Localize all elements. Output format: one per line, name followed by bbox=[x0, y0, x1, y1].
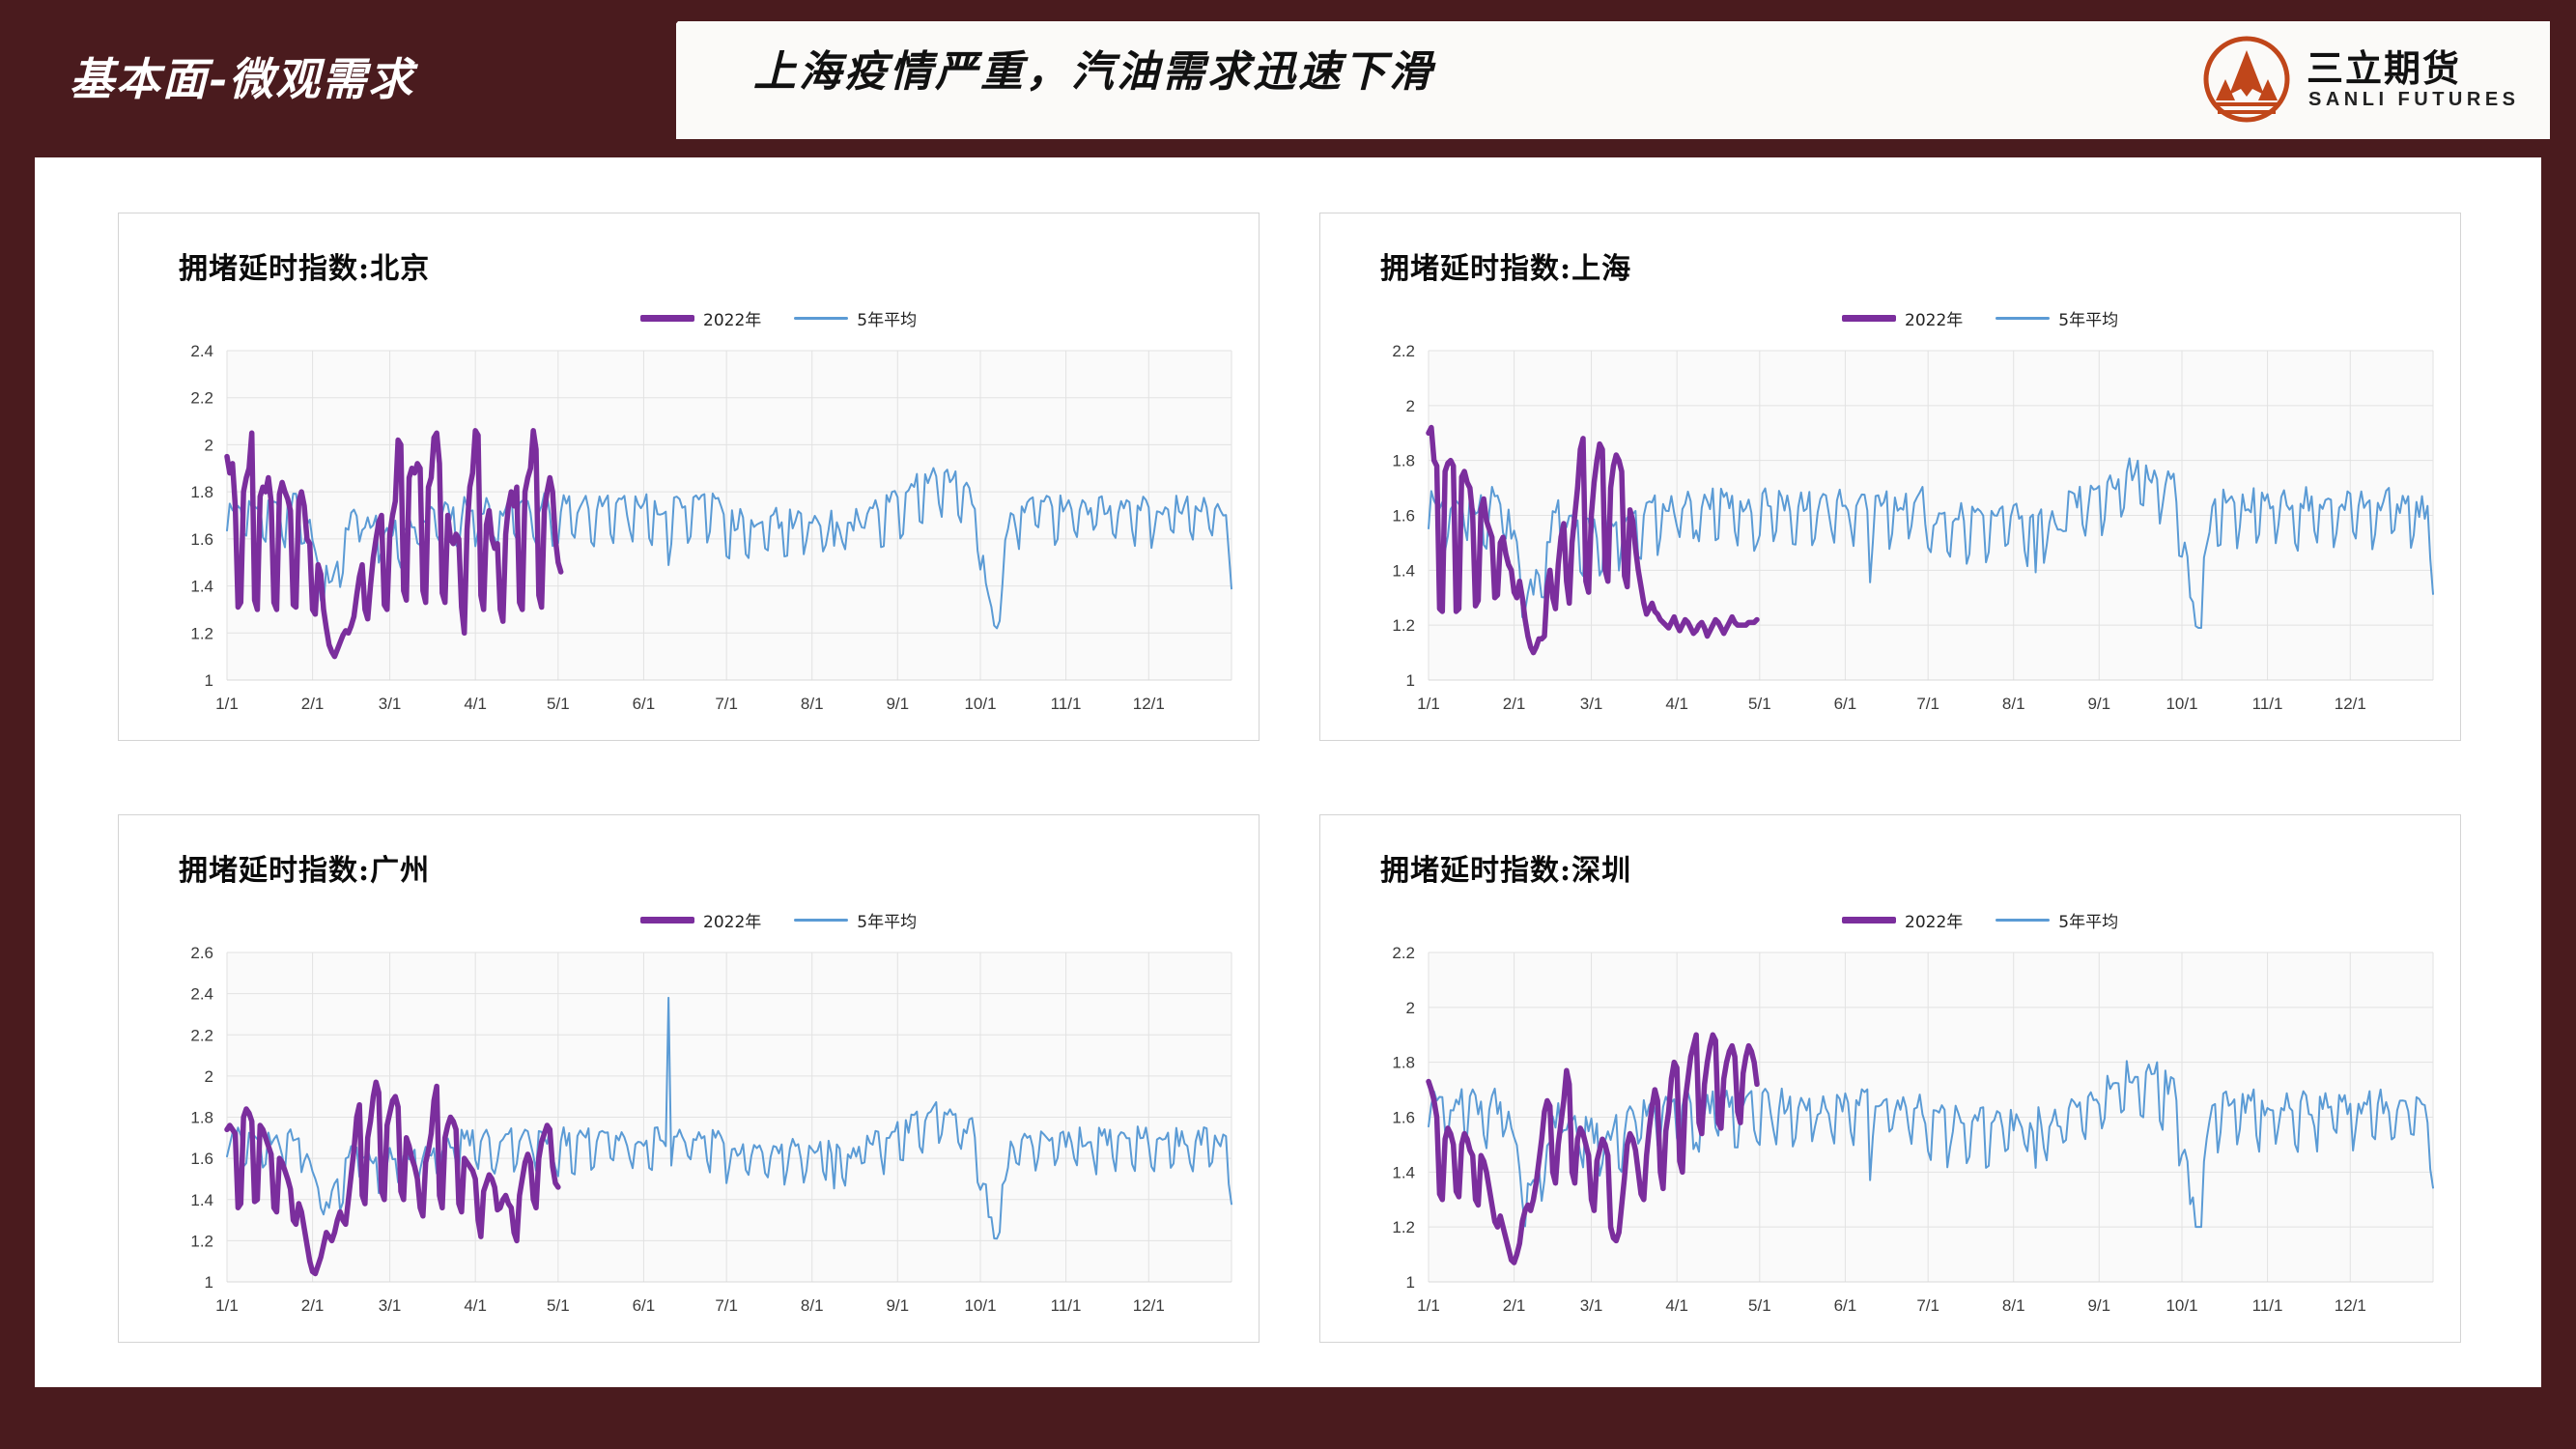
svg-text:1: 1 bbox=[205, 671, 213, 690]
svg-text:2/1: 2/1 bbox=[1503, 695, 1526, 713]
logo-name-cn: 三立期货 bbox=[2307, 39, 2461, 92]
svg-text:2: 2 bbox=[1406, 999, 1415, 1017]
svg-text:1.8: 1.8 bbox=[1392, 452, 1415, 470]
chart-panel-shanghai: 拥堵延时指数:上海 2022年 5年平均 11.21.41.61.822.21/… bbox=[1319, 213, 2461, 741]
svg-text:4/1: 4/1 bbox=[464, 1296, 487, 1315]
svg-text:8/1: 8/1 bbox=[2002, 1296, 2025, 1315]
svg-text:1: 1 bbox=[1406, 1273, 1415, 1292]
svg-text:12/1: 12/1 bbox=[1133, 1296, 1165, 1315]
svg-text:2.2: 2.2 bbox=[1392, 944, 1415, 962]
svg-text:9/1: 9/1 bbox=[886, 1296, 909, 1315]
svg-text:1.6: 1.6 bbox=[1392, 507, 1415, 526]
svg-text:2/1: 2/1 bbox=[1503, 1296, 1526, 1315]
svg-text:12/1: 12/1 bbox=[2335, 695, 2366, 713]
svg-text:9/1: 9/1 bbox=[2087, 1296, 2110, 1315]
svg-text:10/1: 10/1 bbox=[2166, 1296, 2197, 1315]
svg-text:1/1: 1/1 bbox=[1417, 695, 1440, 713]
svg-text:1.2: 1.2 bbox=[190, 1232, 213, 1250]
svg-text:9/1: 9/1 bbox=[886, 695, 909, 713]
svg-text:11/1: 11/1 bbox=[2252, 695, 2283, 713]
plot-shanghai: 11.21.41.61.822.21/12/13/14/15/16/17/18/… bbox=[1320, 213, 2460, 740]
svg-text:11/1: 11/1 bbox=[2252, 1296, 2283, 1315]
svg-text:10/1: 10/1 bbox=[2166, 695, 2197, 713]
page-title: 上海疫情严重，汽油需求迅速下滑 bbox=[753, 37, 1434, 99]
plot-guangzhou: 11.21.41.61.822.22.42.61/12/13/14/15/16/… bbox=[119, 815, 1259, 1342]
svg-text:2.4: 2.4 bbox=[190, 985, 213, 1004]
svg-text:1/1: 1/1 bbox=[1417, 1296, 1440, 1315]
svg-text:1.8: 1.8 bbox=[1392, 1054, 1415, 1072]
svg-text:7/1: 7/1 bbox=[1916, 1296, 1939, 1315]
svg-text:1/1: 1/1 bbox=[215, 695, 239, 713]
chart-panel-shenzhen: 拥堵延时指数:深圳 2022年 5年平均 11.21.41.61.822.21/… bbox=[1319, 814, 2461, 1343]
svg-text:3/1: 3/1 bbox=[379, 1296, 402, 1315]
svg-text:1.8: 1.8 bbox=[190, 1109, 213, 1127]
svg-text:4/1: 4/1 bbox=[1665, 695, 1688, 713]
svg-text:1.6: 1.6 bbox=[1392, 1109, 1415, 1127]
svg-text:10/1: 10/1 bbox=[964, 1296, 996, 1315]
svg-text:7/1: 7/1 bbox=[715, 695, 738, 713]
svg-text:2.2: 2.2 bbox=[190, 1026, 213, 1044]
svg-text:9/1: 9/1 bbox=[2087, 695, 2110, 713]
chart-panel-beijing: 拥堵延时指数:北京 2022年 5年平均 11.21.41.61.822.22.… bbox=[118, 213, 1260, 741]
svg-text:7/1: 7/1 bbox=[715, 1296, 738, 1315]
svg-text:6/1: 6/1 bbox=[633, 695, 656, 713]
svg-text:5/1: 5/1 bbox=[1748, 1296, 1771, 1315]
svg-text:1: 1 bbox=[1406, 671, 1415, 690]
svg-text:1.6: 1.6 bbox=[190, 530, 213, 549]
svg-text:11/1: 11/1 bbox=[1051, 1296, 1082, 1315]
svg-text:5/1: 5/1 bbox=[547, 1296, 570, 1315]
svg-text:1.4: 1.4 bbox=[1392, 1163, 1415, 1181]
svg-text:2.2: 2.2 bbox=[190, 389, 213, 408]
svg-text:1.2: 1.2 bbox=[1392, 616, 1415, 635]
svg-text:1.6: 1.6 bbox=[190, 1150, 213, 1168]
company-logo: 三立期货 SANLI FUTURES bbox=[2202, 33, 2521, 128]
slide: 基本面-微观需求 上海疫情严重，汽油需求迅速下滑 三立期货 SANLI FUTU… bbox=[0, 0, 2576, 1449]
svg-text:8/1: 8/1 bbox=[801, 695, 824, 713]
svg-text:3/1: 3/1 bbox=[1580, 695, 1603, 713]
header-section-tag-label: 基本面-微观需求 bbox=[70, 44, 414, 108]
svg-text:1.2: 1.2 bbox=[1392, 1218, 1415, 1236]
header-section-tag: 基本面-微观需求 bbox=[0, 0, 676, 157]
svg-text:5/1: 5/1 bbox=[1748, 695, 1771, 713]
plot-beijing: 11.21.41.61.822.22.41/12/13/14/15/16/17/… bbox=[119, 213, 1259, 740]
svg-text:8/1: 8/1 bbox=[801, 1296, 824, 1315]
svg-text:5/1: 5/1 bbox=[547, 695, 570, 713]
svg-text:1/1: 1/1 bbox=[215, 1296, 239, 1315]
logo-name-en: SANLI FUTURES bbox=[2308, 89, 2520, 111]
svg-text:2.4: 2.4 bbox=[190, 342, 213, 360]
svg-text:1.8: 1.8 bbox=[190, 483, 213, 501]
svg-text:2/1: 2/1 bbox=[301, 1296, 325, 1315]
svg-text:12/1: 12/1 bbox=[2335, 1296, 2366, 1315]
svg-text:3/1: 3/1 bbox=[1580, 1296, 1603, 1315]
svg-text:2: 2 bbox=[205, 436, 213, 454]
svg-text:10/1: 10/1 bbox=[964, 695, 996, 713]
chart-grid: 拥堵延时指数:北京 2022年 5年平均 11.21.41.61.822.22.… bbox=[35, 157, 2541, 1387]
svg-text:8/1: 8/1 bbox=[2002, 695, 2025, 713]
svg-text:4/1: 4/1 bbox=[464, 695, 487, 713]
svg-text:6/1: 6/1 bbox=[1834, 1296, 1857, 1315]
svg-text:3/1: 3/1 bbox=[379, 695, 402, 713]
svg-text:1.4: 1.4 bbox=[1392, 561, 1415, 580]
svg-text:1.4: 1.4 bbox=[190, 1191, 213, 1209]
svg-text:1.4: 1.4 bbox=[190, 578, 213, 596]
chart-panel-guangzhou: 拥堵延时指数:广州 2022年 5年平均 11.21.41.61.822.22.… bbox=[118, 814, 1260, 1343]
svg-text:1.2: 1.2 bbox=[190, 624, 213, 642]
svg-text:12/1: 12/1 bbox=[1133, 695, 1165, 713]
svg-text:2: 2 bbox=[1406, 397, 1415, 415]
svg-text:6/1: 6/1 bbox=[1834, 695, 1857, 713]
svg-text:2/1: 2/1 bbox=[301, 695, 325, 713]
slide-body: 拥堵延时指数:北京 2022年 5年平均 11.21.41.61.822.22.… bbox=[35, 157, 2541, 1387]
svg-text:2: 2 bbox=[205, 1067, 213, 1086]
svg-text:11/1: 11/1 bbox=[1051, 695, 1082, 713]
svg-text:1: 1 bbox=[205, 1273, 213, 1292]
svg-text:4/1: 4/1 bbox=[1665, 1296, 1688, 1315]
plot-shenzhen: 11.21.41.61.822.21/12/13/14/15/16/17/18/… bbox=[1320, 815, 2460, 1342]
mountain-circle-icon bbox=[2202, 35, 2291, 124]
svg-text:6/1: 6/1 bbox=[633, 1296, 656, 1315]
svg-text:2.2: 2.2 bbox=[1392, 342, 1415, 360]
svg-text:2.6: 2.6 bbox=[190, 944, 213, 962]
svg-text:7/1: 7/1 bbox=[1916, 695, 1939, 713]
slide-header: 基本面-微观需求 上海疫情严重，汽油需求迅速下滑 三立期货 SANLI FUTU… bbox=[0, 0, 2576, 157]
